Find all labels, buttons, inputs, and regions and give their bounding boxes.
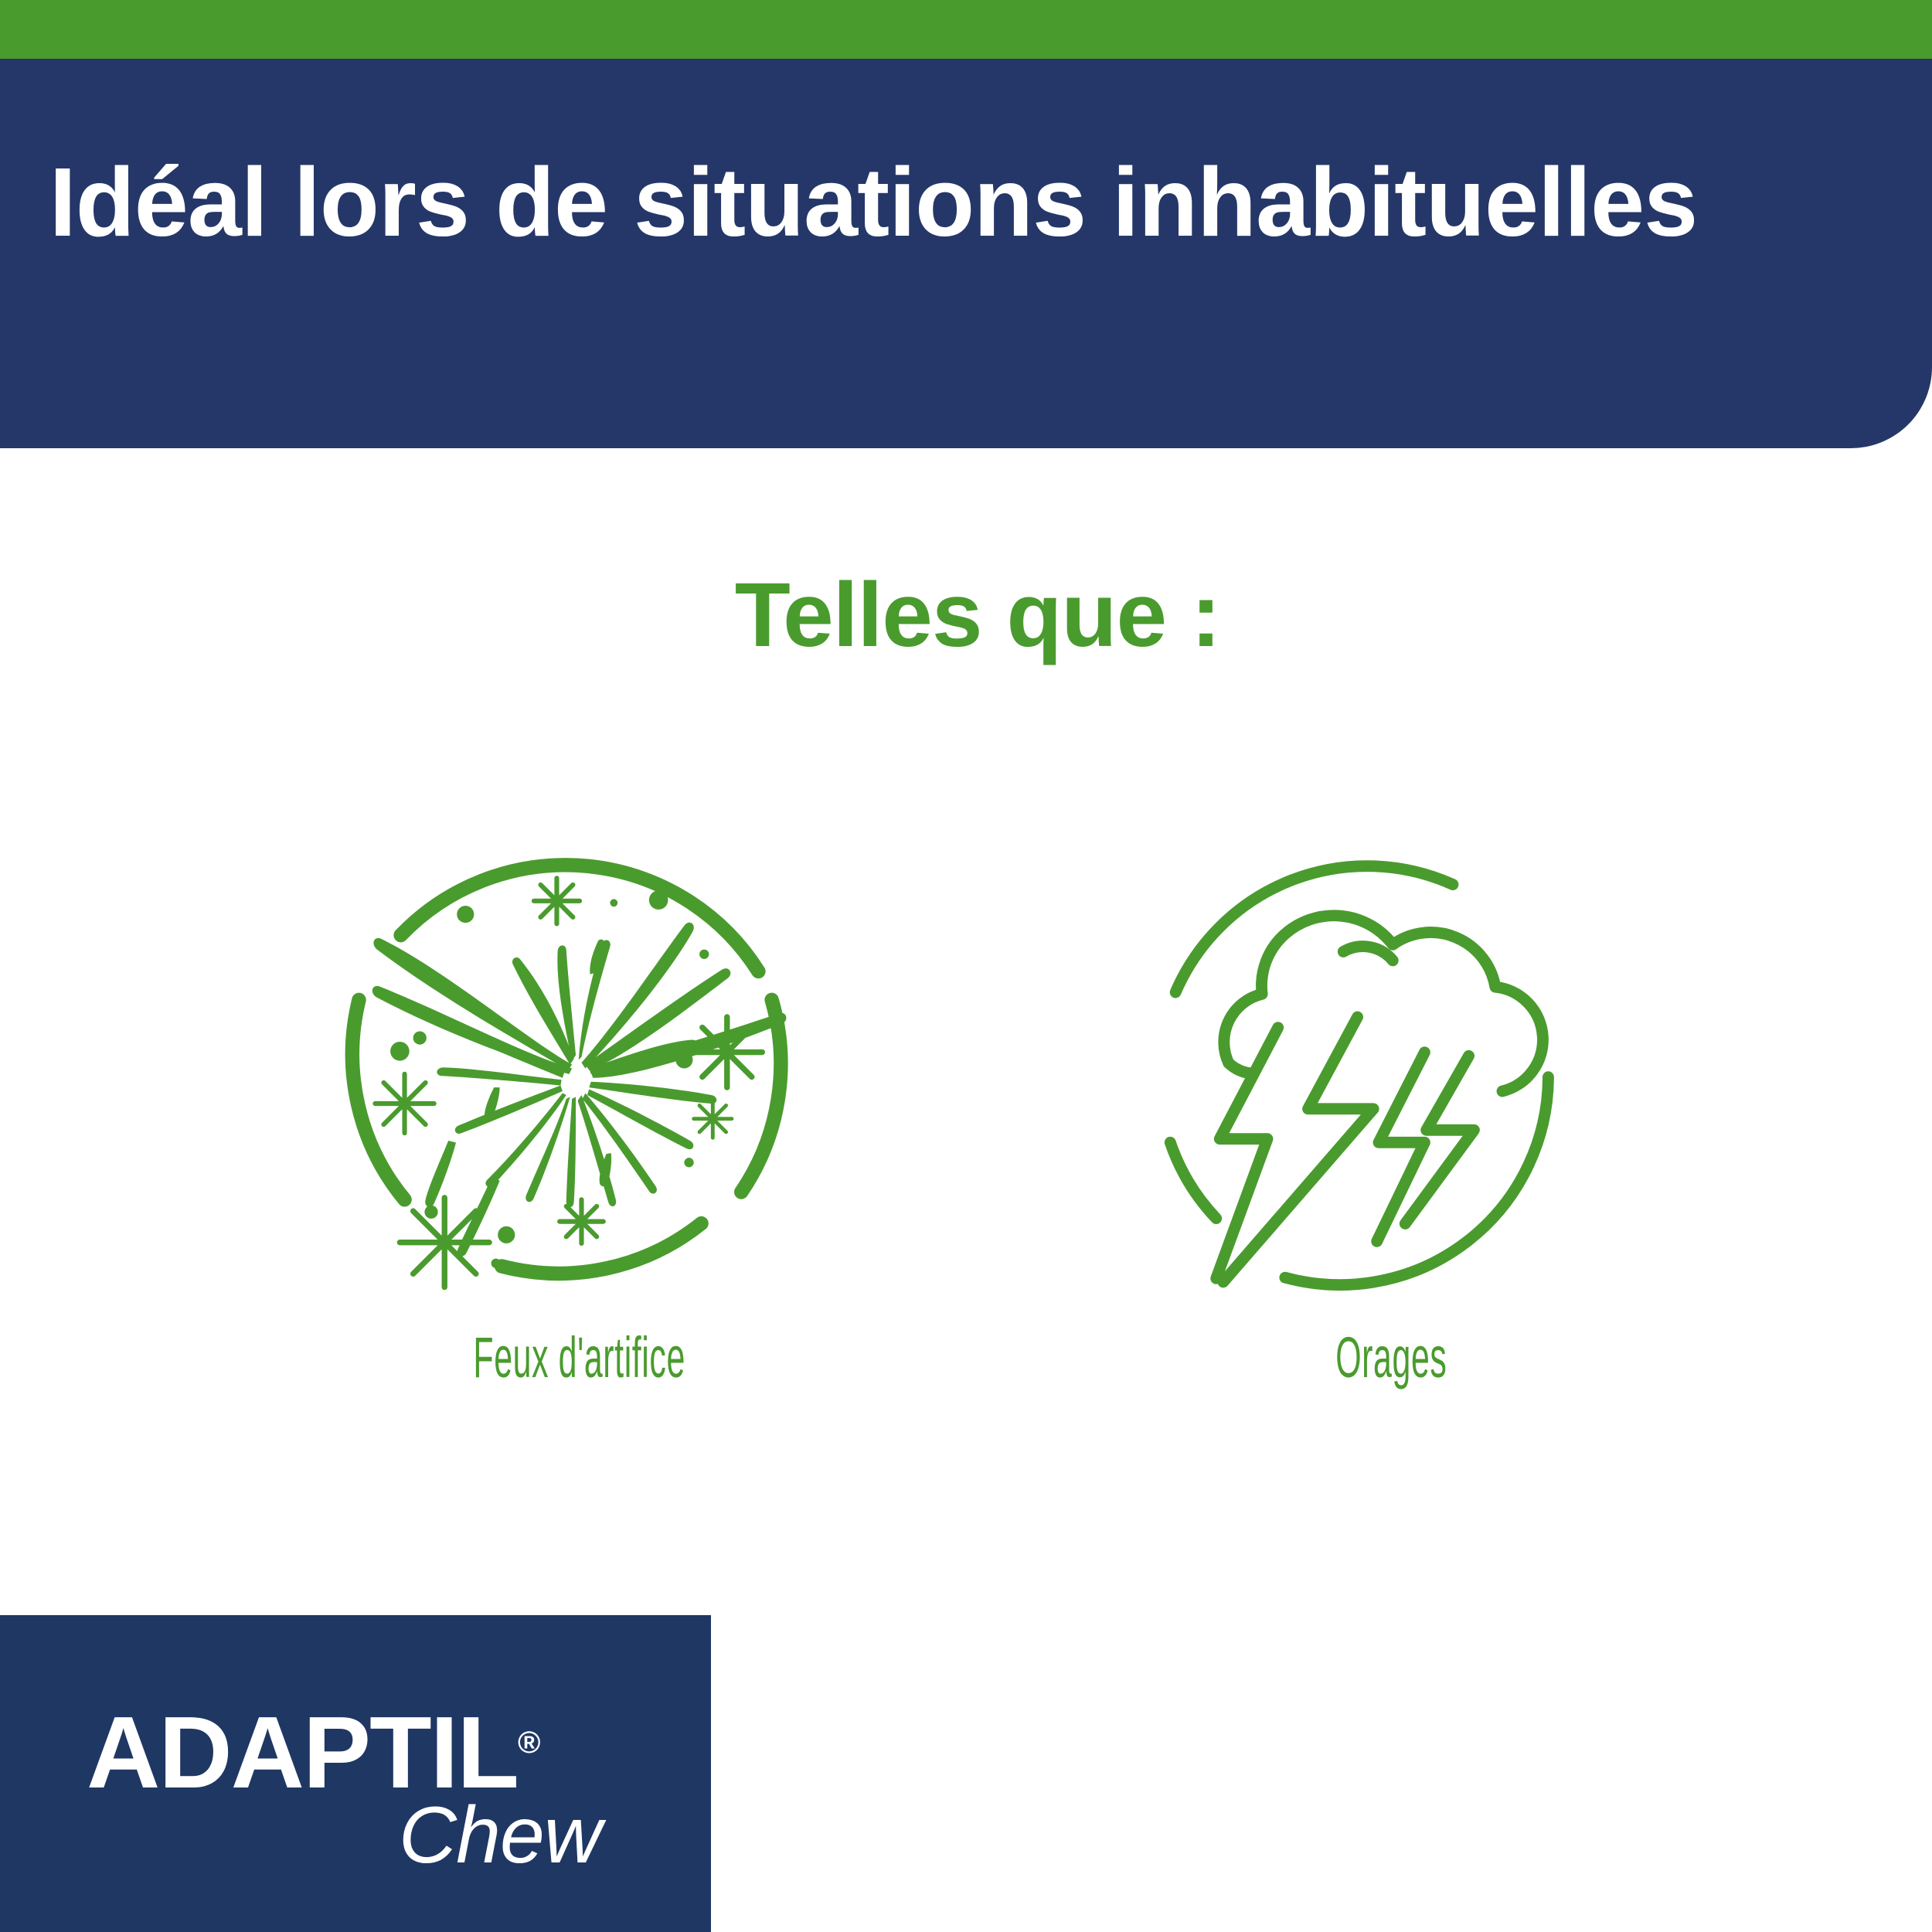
header-banner: Idéal lors de situations inhabituelles xyxy=(0,59,1932,448)
subheading: Telles que : xyxy=(0,563,1932,668)
situations-row: Feux d'artifice xyxy=(0,819,1932,1453)
situation-item-fireworks: Feux d'artifice xyxy=(286,819,873,1390)
registered-trademark-icon: ® xyxy=(518,1726,540,1760)
thunderstorm-icon xyxy=(1159,819,1623,1314)
brand-product-name: Chew xyxy=(399,1790,601,1882)
page-title: Idéal lors de situations inhabituelles xyxy=(0,145,1747,259)
brand-logo-block: ADAPTIL® Chew xyxy=(0,1615,711,1932)
poster-canvas: Idéal lors de situations inhabituelles T… xyxy=(0,0,1932,1932)
situation-label-thunderstorm: Orages xyxy=(1335,1325,1447,1390)
situation-item-thunderstorm: Orages xyxy=(1097,819,1685,1390)
fireworks-icon xyxy=(328,819,831,1314)
situation-label-fireworks: Feux d'artifice xyxy=(474,1325,686,1390)
top-green-accent-bar xyxy=(0,0,1932,59)
